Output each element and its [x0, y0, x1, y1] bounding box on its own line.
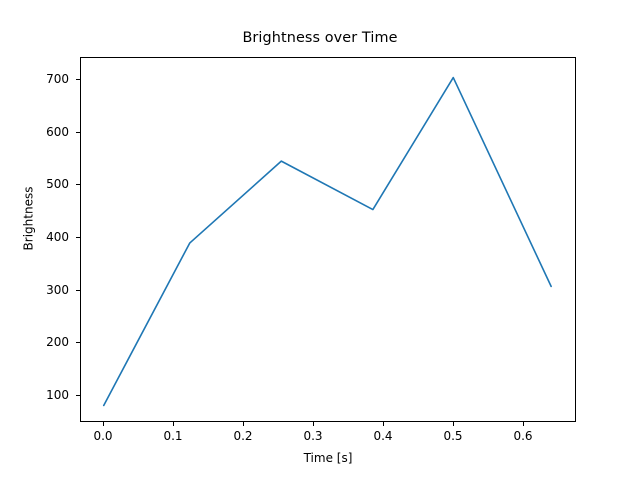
ytick-label-700: 700	[9, 73, 69, 85]
xtick-mark	[243, 422, 244, 426]
xtick-label-0.6: 0.6	[493, 430, 553, 442]
ytick-label-200: 200	[9, 336, 69, 348]
plot-axes	[80, 57, 576, 422]
xtick-label-0.5: 0.5	[423, 430, 483, 442]
xtick-label-0.3: 0.3	[283, 430, 343, 442]
ytick-mark	[76, 79, 80, 80]
ytick-mark	[76, 184, 80, 185]
data-series-line	[104, 78, 551, 406]
xtick-mark	[453, 422, 454, 426]
ytick-label-400: 400	[9, 231, 69, 243]
x-axis-label: Time [s]	[80, 452, 576, 465]
xtick-label-0.2: 0.2	[213, 430, 273, 442]
ytick-label-500: 500	[9, 178, 69, 190]
xtick-mark	[173, 422, 174, 426]
xtick-mark	[103, 422, 104, 426]
xtick-mark	[523, 422, 524, 426]
xtick-label-0.0: 0.0	[73, 430, 133, 442]
ytick-mark	[76, 395, 80, 396]
y-axis-label: Brightness	[23, 159, 36, 279]
ytick-mark	[76, 342, 80, 343]
xtick-label-0.4: 0.4	[353, 430, 413, 442]
ytick-mark	[76, 132, 80, 133]
ytick-mark	[76, 290, 80, 291]
ytick-mark	[76, 237, 80, 238]
xtick-label-0.1: 0.1	[143, 430, 203, 442]
line-plot-svg	[81, 58, 577, 423]
matplotlib-figure: Brightness over Time 100 200 300 400 500…	[0, 0, 640, 480]
xtick-mark	[383, 422, 384, 426]
xtick-mark	[313, 422, 314, 426]
ytick-label-100: 100	[9, 389, 69, 401]
ytick-label-600: 600	[9, 126, 69, 138]
chart-title: Brightness over Time	[0, 30, 640, 47]
ytick-label-300: 300	[9, 284, 69, 296]
